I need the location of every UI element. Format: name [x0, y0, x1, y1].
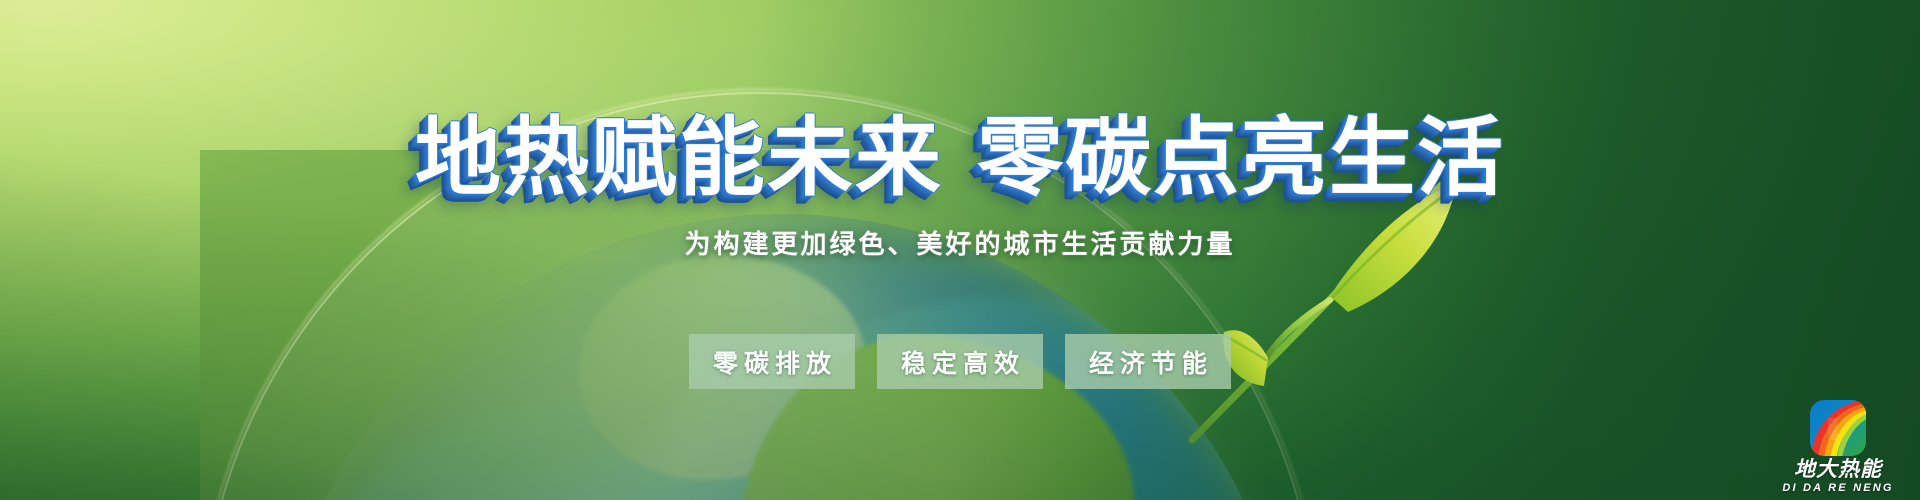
feature-tag-list: 零碳排放 稳定高效 经济节能	[0, 334, 1920, 389]
headline-part-2: 零碳点亮生活	[977, 110, 1505, 206]
ocean-band	[323, 398, 886, 500]
feature-tag-stable-efficient[interactable]: 稳定高效	[877, 334, 1043, 389]
banner-subtitle: 为构建更加绿色、美好的城市生活贡献力量	[0, 224, 1920, 261]
hero-banner: 地热赋能未来零碳点亮生活 为构建更加绿色、美好的城市生活贡献力量 零碳排放 稳定…	[0, 0, 1920, 500]
feature-tag-economic-saving[interactable]: 经济节能	[1065, 334, 1231, 389]
company-logo[interactable]: 地大热能 DI DA RE NENG	[1774, 398, 1902, 494]
feature-tag-zero-carbon[interactable]: 零碳排放	[689, 334, 855, 389]
headline-part-1: 地热赋能未来	[415, 110, 943, 206]
banner-headline: 地热赋能未来零碳点亮生活	[0, 112, 1920, 205]
ocean-band	[764, 296, 1256, 500]
rounded-square-rainbow-swoosh-icon	[1808, 398, 1868, 458]
logo-chinese-name: 地大热能	[1774, 459, 1902, 481]
logo-english-name: DI DA RE NENG	[1774, 482, 1902, 494]
landmass	[347, 478, 914, 500]
